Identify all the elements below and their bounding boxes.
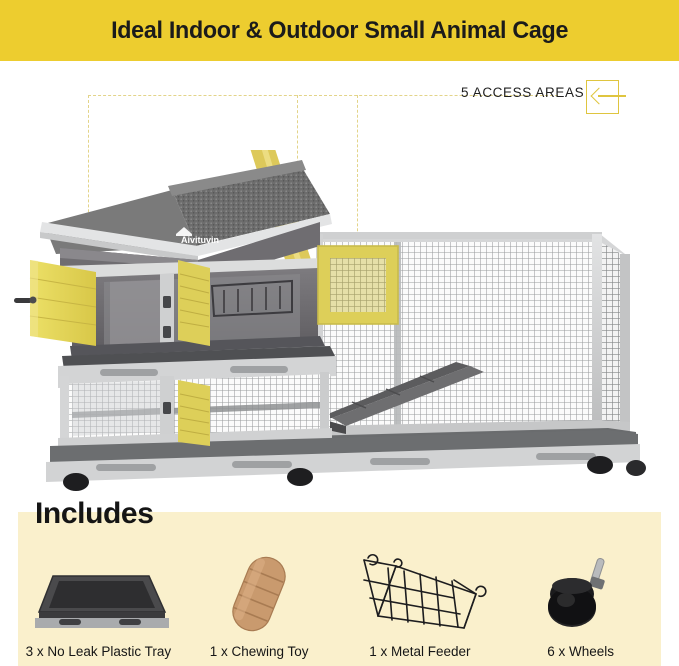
header-banner: Ideal Indoor & Outdoor Small Animal Cage: [0, 0, 679, 61]
includes-title: Includes: [35, 497, 154, 531]
base-handle-left: [96, 464, 156, 471]
tray-handle-right: [230, 366, 288, 373]
access-areas-label: 5 ACCESS AREAS: [461, 85, 584, 100]
product-infographic: Ideal Indoor & Outdoor Small Animal Cage…: [0, 0, 679, 666]
list-item-label: 3 x No Leak Plastic Tray: [26, 644, 172, 659]
base-handle-mid: [232, 461, 292, 468]
product-illustration: Aivituvin: [0, 150, 679, 495]
access-door-lower-middle: [178, 380, 210, 446]
list-item-label: 1 x Chewing Toy: [210, 644, 309, 659]
chewing-toy-icon: [204, 550, 314, 638]
list-item: 1 x Metal Feeder: [340, 534, 501, 659]
access-door-upper-left: [14, 260, 96, 346]
plastic-tray-icon: [23, 550, 173, 638]
base-handle-right: [370, 458, 430, 465]
list-item: 6 x Wheels: [500, 534, 661, 659]
list-item-label: 1 x Metal Feeder: [369, 644, 470, 659]
list-item: 3 x No Leak Plastic Tray: [18, 534, 179, 659]
metal-feeder-icon: [350, 550, 490, 638]
includes-items: 3 x No Leak Plastic Tray: [18, 534, 661, 659]
base-handle-far-right: [536, 453, 596, 460]
brand-logo-text: Aivituvin: [181, 235, 219, 245]
list-item: 1 x Chewing Toy: [179, 534, 340, 659]
caster-wheel-icon: [526, 550, 636, 638]
access-door-upper-middle: [178, 260, 210, 346]
access-door-run-front: [318, 246, 398, 324]
page-title: Ideal Indoor & Outdoor Small Animal Cage: [111, 17, 568, 45]
list-item-label: 6 x Wheels: [547, 644, 614, 659]
tray-handle-left: [100, 369, 158, 376]
